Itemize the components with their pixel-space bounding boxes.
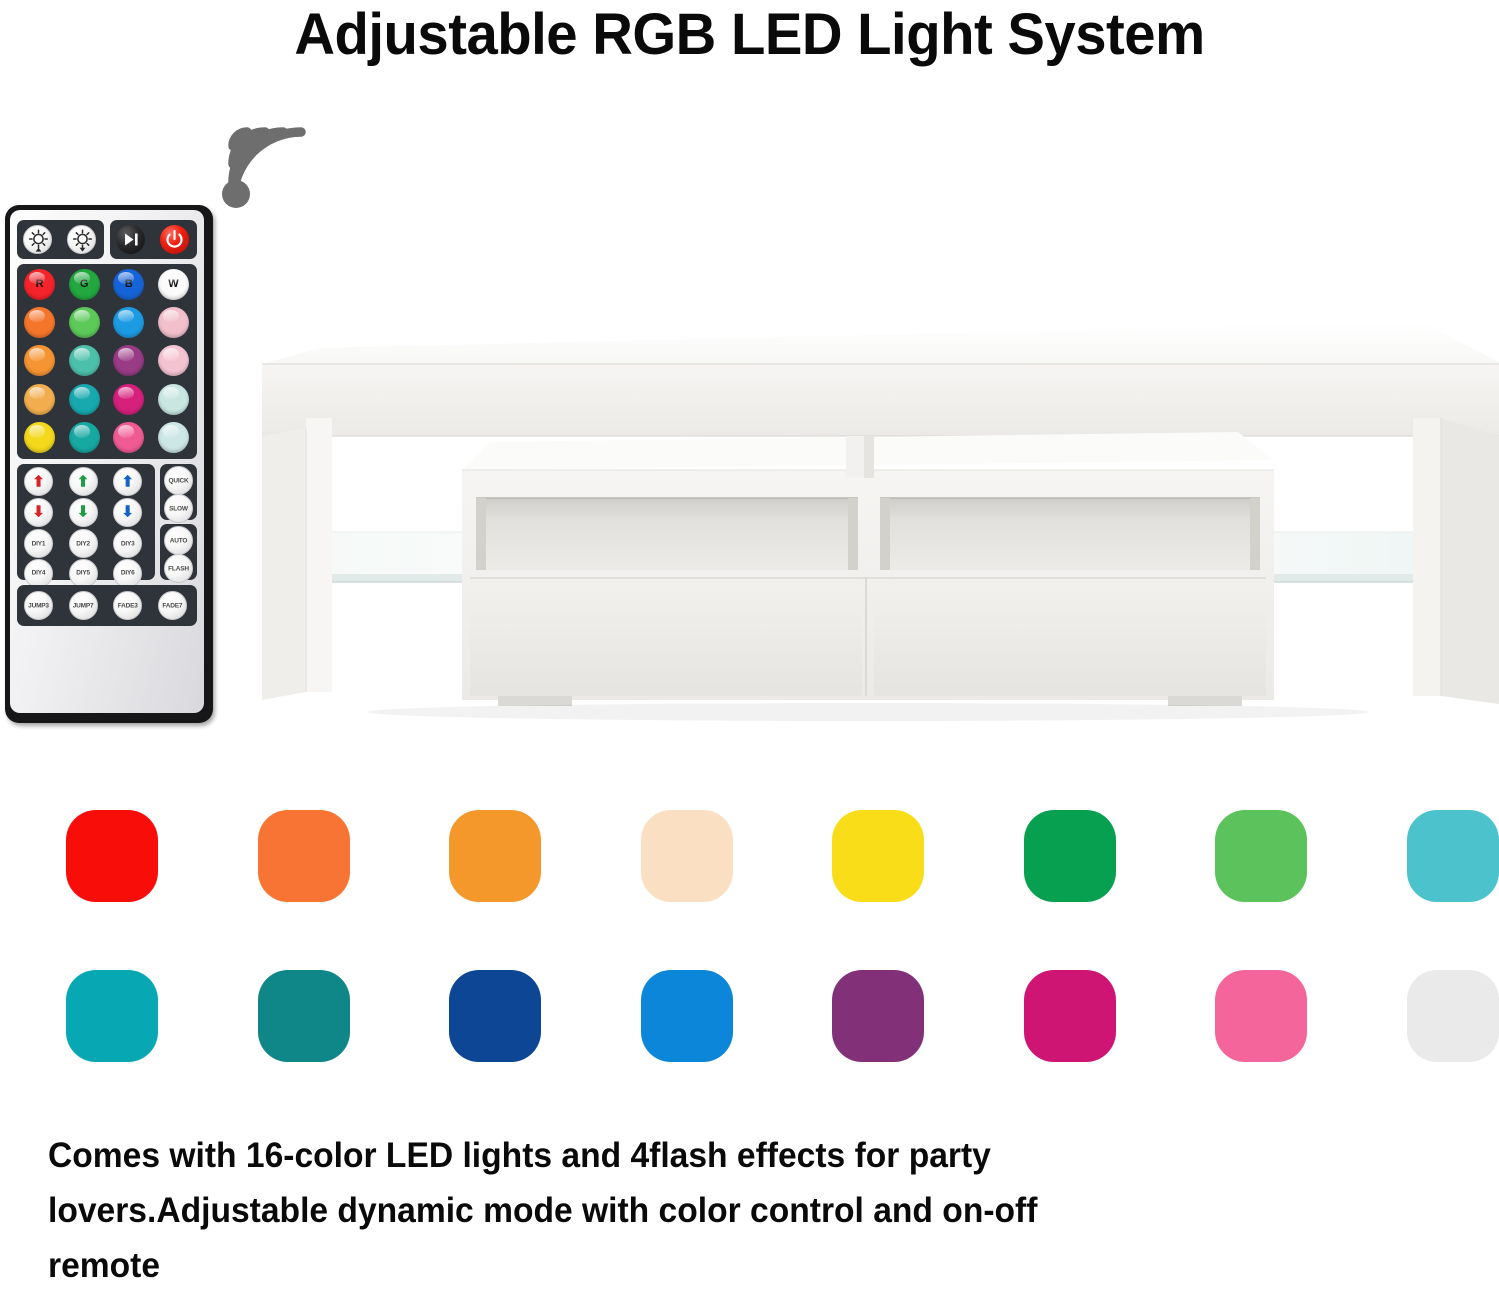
red-up-button[interactable]: ⬆	[24, 467, 53, 496]
brightness-down-button[interactable]	[67, 225, 96, 254]
diy-button-label: DIY2	[70, 540, 97, 547]
diy-button-label: DIY6	[114, 570, 141, 577]
mode-button-label: QUICK	[165, 477, 192, 484]
caption-line-2: lovers.Adjustable dynamic mode with colo…	[48, 1183, 1421, 1238]
color-button-label: R	[24, 278, 55, 290]
power-button[interactable]	[160, 225, 189, 254]
color-button-14[interactable]	[69, 384, 100, 415]
swatch-teal	[258, 970, 350, 1062]
swatch-magenta	[1024, 970, 1116, 1062]
green-up-button[interactable]: ⬆	[69, 467, 98, 496]
swatch-peach	[641, 810, 733, 902]
color-button-18[interactable]	[69, 422, 100, 453]
product-description: Comes with 16-color LED lights and 4flas…	[48, 1128, 1421, 1293]
swatch-cyan	[66, 970, 158, 1062]
fade3-button[interactable]: FADE3	[113, 591, 142, 620]
bottom-button-label: FADE7	[159, 602, 186, 609]
color-button-10[interactable]	[69, 345, 100, 376]
mode-button-label: FLASH	[165, 565, 192, 572]
blue-up-button[interactable]: ⬆	[113, 467, 142, 496]
swatch-blue	[641, 970, 733, 1062]
color-button-label: G	[69, 278, 100, 290]
diy-button-6[interactable]: DIY6	[113, 559, 142, 588]
arrow-icon: ⬇	[77, 505, 90, 520]
swatch-purple	[832, 970, 924, 1062]
led-color-swatch-grid	[66, 810, 1466, 1072]
arrow-icon: ⬇	[32, 505, 45, 520]
swatch-yellow	[832, 810, 924, 902]
swatch-orange	[258, 810, 350, 902]
arrow-diy-pad: ⬆⬆⬆⬇⬇⬇DIY1DIY2DIY3DIY4DIY5DIY6	[17, 464, 155, 580]
brightness-up-button[interactable]	[23, 225, 52, 254]
green-down-button[interactable]: ⬇	[69, 498, 98, 527]
mode-button-label: SLOW	[165, 505, 192, 512]
auto-button[interactable]: AUTO	[164, 526, 193, 555]
color-button-pad: RGBW	[17, 264, 197, 459]
bottom-button-label: FADE3	[114, 602, 141, 609]
quick-button[interactable]: QUICK	[164, 466, 193, 495]
diy-button-2[interactable]: DIY2	[69, 529, 98, 558]
color-button-11[interactable]	[113, 345, 144, 376]
color-button-17[interactable]	[24, 422, 55, 453]
page-title: Adjustable RGB LED Light System	[22, 2, 1476, 68]
diy-button-label: DIY1	[25, 540, 52, 547]
play-pause-button[interactable]	[116, 225, 145, 254]
color-button-16[interactable]	[158, 384, 189, 415]
red-down-button[interactable]: ⬇	[24, 498, 53, 527]
diy-button-label: DIY5	[70, 570, 97, 577]
color-button-1[interactable]: R	[24, 269, 55, 300]
blue-down-button[interactable]: ⬇	[113, 498, 142, 527]
wifi-signal-icon	[219, 118, 319, 210]
diy-button-5[interactable]: DIY5	[69, 559, 98, 588]
swatch-white	[1407, 970, 1499, 1062]
diy-button-4[interactable]: DIY4	[24, 559, 53, 588]
color-button-7[interactable]	[113, 307, 144, 338]
jump7-button[interactable]: JUMP7	[69, 591, 98, 620]
led-remote-control[interactable]: RGBW ⬆⬆⬆⬇⬇⬇DIY1DIY2DIY3DIY4DIY5DIY6 QUIC…	[5, 205, 213, 723]
caption-line-1: Comes with 16-color LED lights and 4flas…	[48, 1128, 1421, 1183]
swatch-green	[1024, 810, 1116, 902]
color-button-13[interactable]	[24, 384, 55, 415]
slow-button[interactable]: SLOW	[164, 494, 193, 523]
color-button-15[interactable]	[113, 384, 144, 415]
brightness-pad	[17, 220, 104, 259]
remote-faceplate: RGBW ⬆⬆⬆⬇⬇⬇DIY1DIY2DIY3DIY4DIY5DIY6 QUIC…	[10, 210, 204, 713]
swatch-amber	[449, 810, 541, 902]
caption-line-3: remote	[48, 1238, 1421, 1293]
power-pad	[110, 220, 197, 259]
color-button-6[interactable]	[69, 307, 100, 338]
color-button-5[interactable]	[24, 307, 55, 338]
color-button-8[interactable]	[158, 307, 189, 338]
diy-button-3[interactable]: DIY3	[113, 529, 142, 558]
diy-button-label: DIY3	[114, 540, 141, 547]
swatch-turquoise	[1407, 810, 1499, 902]
swatch-lightgreen	[1215, 810, 1307, 902]
diy-button-label: DIY4	[25, 570, 52, 577]
arrow-icon: ⬆	[32, 474, 45, 489]
color-button-3[interactable]: B	[113, 269, 144, 300]
arrow-icon: ⬇	[121, 505, 134, 520]
color-button-9[interactable]	[24, 345, 55, 376]
jump3-button[interactable]: JUMP3	[24, 591, 53, 620]
color-button-2[interactable]: G	[69, 269, 100, 300]
swatch-red	[66, 810, 158, 902]
bottom-button-label: JUMP3	[25, 602, 52, 609]
bottom-button-label: JUMP7	[70, 602, 97, 609]
color-button-20[interactable]	[158, 422, 189, 453]
color-button-label: B	[113, 278, 144, 290]
color-button-label: W	[158, 278, 189, 290]
arrow-icon: ⬆	[121, 474, 134, 489]
effect-pad: AUTOFLASH	[160, 524, 197, 580]
color-button-4[interactable]: W	[158, 269, 189, 300]
fade7-button[interactable]: FADE7	[158, 591, 187, 620]
flash-button[interactable]: FLASH	[164, 554, 193, 583]
color-button-12[interactable]	[158, 345, 189, 376]
swatch-navy	[449, 970, 541, 1062]
mode-button-label: AUTO	[165, 537, 192, 544]
jump-fade-pad: JUMP3JUMP7FADE3FADE7	[17, 585, 197, 626]
white-led-tv-stand	[248, 300, 1499, 730]
arrow-icon: ⬆	[77, 474, 90, 489]
speed-pad: QUICKSLOW	[160, 464, 197, 520]
swatch-pink	[1215, 970, 1307, 1062]
color-button-19[interactable]	[113, 422, 144, 453]
diy-button-1[interactable]: DIY1	[24, 529, 53, 558]
